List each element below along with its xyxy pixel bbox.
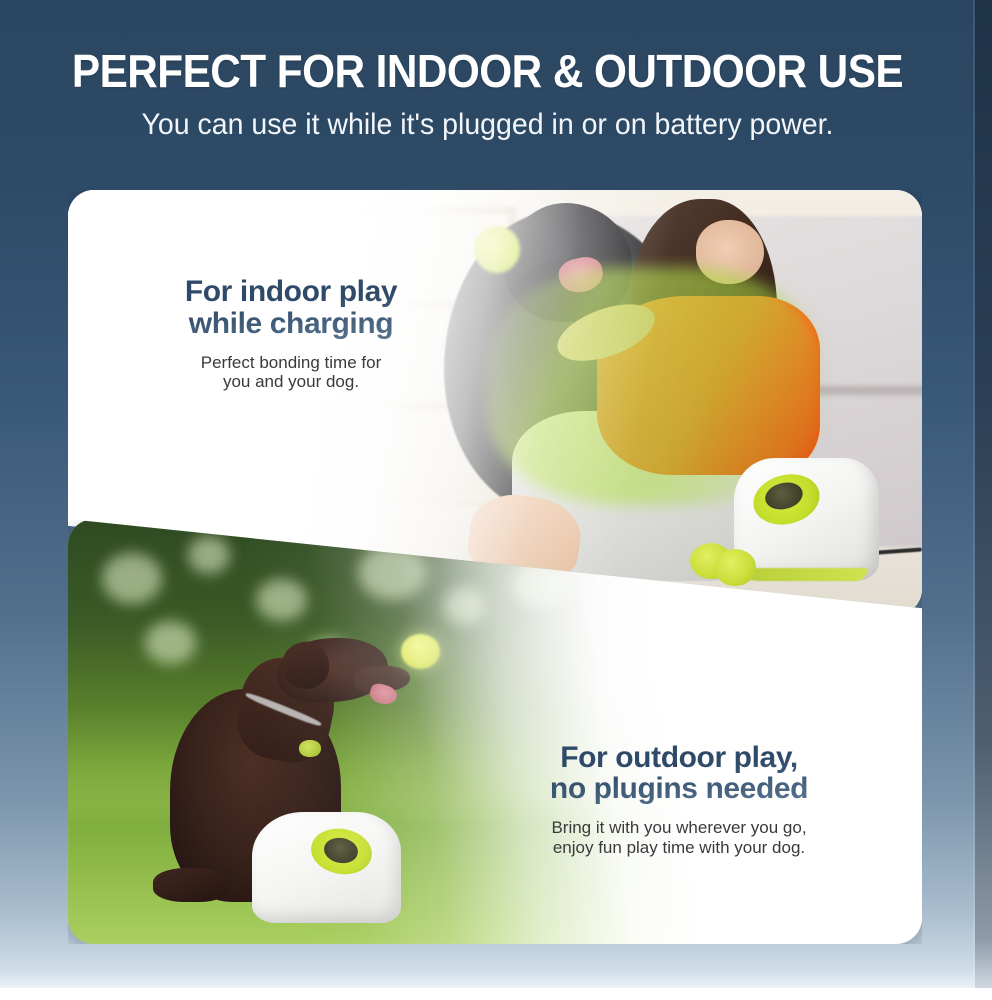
page-subtitle: You can use it while it's plugged in or … bbox=[24, 108, 950, 141]
outdoor-sub-line1: Bring it with you wherever you go, bbox=[551, 818, 806, 837]
promo-banner: PERFECT FOR INDOOR & OUTDOOR USE You can… bbox=[0, 0, 992, 1000]
right-edge-strip bbox=[975, 0, 992, 988]
indoor-sub-line2: you and your dog. bbox=[106, 372, 476, 392]
indoor-sub-line1: Perfect bonding time for bbox=[201, 353, 381, 372]
outdoor-text-block: For outdoor play, no plugins needed Brin… bbox=[484, 742, 874, 858]
page-title: PERFECT FOR INDOOR & OUTDOOR USE bbox=[39, 48, 936, 94]
outdoor-card-subtext: Bring it with you wherever you go, enjoy… bbox=[484, 818, 874, 858]
outdoor-heading-line1: For outdoor play, bbox=[560, 741, 798, 774]
outdoor-heading-line2: no plugins needed bbox=[484, 773, 874, 805]
bottom-white-band bbox=[0, 988, 992, 1000]
indoor-heading-line1: For indoor play bbox=[185, 275, 397, 308]
outdoor-sub-line2: enjoy fun play time with your dog. bbox=[484, 838, 874, 858]
indoor-text-block: For indoor play while charging Perfect b… bbox=[106, 276, 476, 392]
indoor-card-subtext: Perfect bonding time for you and your do… bbox=[106, 353, 476, 393]
header: PERFECT FOR INDOOR & OUTDOOR USE You can… bbox=[0, 48, 975, 141]
indoor-heading-line2: while charging bbox=[106, 308, 476, 340]
outdoor-card-heading: For outdoor play, no plugins needed bbox=[484, 742, 874, 806]
indoor-card-heading: For indoor play while charging bbox=[106, 276, 476, 340]
